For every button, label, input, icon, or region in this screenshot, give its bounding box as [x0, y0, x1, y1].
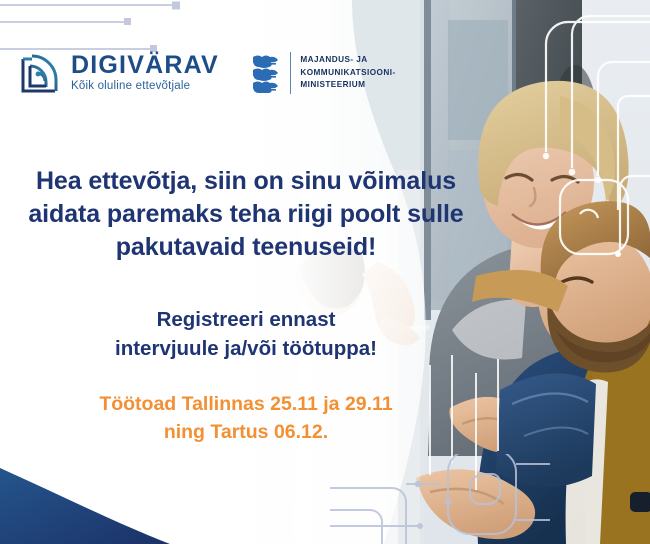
ministry-line-1: Majandus- ja: [300, 54, 395, 66]
digivarav-portal-icon: [18, 50, 62, 96]
brand-tagline: Kõik oluline ettevõtjale: [71, 80, 219, 94]
ministry-logo[interactable]: Majandus- ja Kommunikatsiooni- Ministeer…: [251, 52, 396, 94]
digivarav-logo[interactable]: DIGIVÄRAV Kõik oluline ettevõtjale: [18, 50, 219, 96]
headline-line-1: Hea ettevõtja, siin on sinu võimalus: [0, 165, 492, 198]
ministry-name: Majandus- ja Kommunikatsiooni- Ministeer…: [300, 54, 395, 91]
decorative-circuit-bottom: [330, 454, 550, 544]
estonia-three-lions-coat-of-arms-icon: [251, 53, 281, 93]
ministry-line-3: Ministeerium: [300, 79, 395, 91]
ministry-line-2: Kommunikatsiooni-: [300, 67, 395, 79]
subheadline-line-1: Registreeri ennast: [0, 305, 492, 334]
headline-line-2: aidata paremaks teha riigi poolt sulle: [0, 198, 492, 231]
event-dates-line-2: ning Tartus 06.12.: [0, 418, 492, 446]
brand-title: DIGIVÄRAV: [71, 52, 219, 78]
headline: Hea ettevõtja, siin on sinu võimalus aid…: [0, 165, 492, 264]
promotional-banner: DIGIVÄRAV Kõik oluline ettevõtjale: [0, 0, 650, 544]
subheadline-line-2: intervjuule ja/või töötuppa!: [0, 334, 492, 363]
event-dates: Töötoad Tallinnas 25.11 ja 29.11 ning Ta…: [0, 390, 492, 447]
header-logos: DIGIVÄRAV Kõik oluline ettevõtjale: [18, 50, 396, 96]
headline-line-3: pakutavaid teenuseid!: [0, 231, 492, 264]
subheadline: Registreeri ennast intervjuule ja/või tö…: [0, 305, 492, 363]
event-dates-line-1: Töötoad Tallinnas 25.11 ja 29.11: [0, 390, 492, 418]
ministry-divider: [290, 52, 292, 94]
